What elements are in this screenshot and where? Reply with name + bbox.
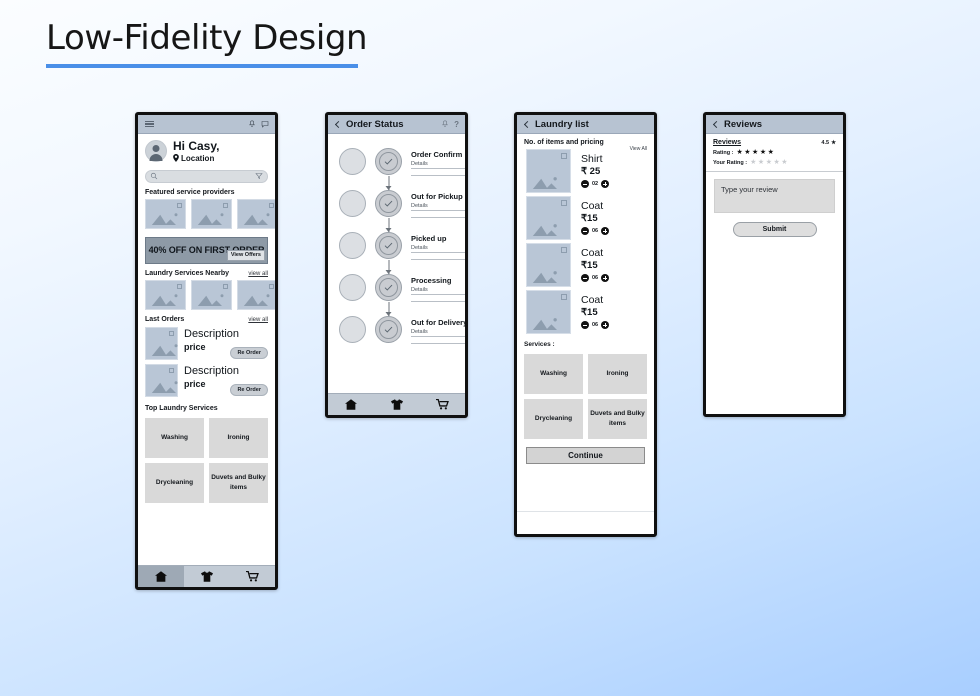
home-appbar: [138, 115, 275, 134]
rating-row: Rating : ★★★★★: [706, 146, 843, 156]
step-details[interactable]: Details: [411, 245, 468, 251]
your-rating-stars[interactable]: ★★★★★: [750, 159, 787, 166]
tab-home[interactable]: [138, 566, 184, 587]
laundry-list-appbar: Laundry list: [517, 115, 654, 134]
bell-icon[interactable]: [441, 120, 449, 128]
status-step: Out for Pickup Details: [328, 190, 465, 232]
image-placeholder-icon: [531, 176, 568, 189]
cart-icon: [246, 571, 259, 582]
quantity-stepper[interactable]: 06: [581, 274, 609, 282]
image-placeholder-icon: [150, 293, 187, 306]
item-thumbnail: [526, 243, 571, 287]
step-check-icon: [375, 190, 402, 217]
service-tile-washing[interactable]: Washing: [145, 418, 204, 458]
step-thumbnail: [339, 316, 366, 343]
step-connector: [388, 260, 389, 274]
cart-icon: [436, 399, 449, 410]
step-check-icon: [375, 274, 402, 301]
your-rating-label: Your Rating :: [713, 160, 747, 166]
step-details[interactable]: Details: [411, 203, 468, 209]
star-icon[interactable]: ★: [758, 159, 764, 166]
laundry-item-row: Shirt ₹ 25 02: [517, 146, 654, 193]
minus-icon[interactable]: [581, 274, 589, 282]
featured-thumbnail[interactable]: [191, 199, 232, 229]
nearby-thumbnail[interactable]: [191, 280, 232, 310]
nearby-thumbnail[interactable]: [145, 280, 186, 310]
step-thumbnail: [339, 274, 366, 301]
service-tile-washing[interactable]: Washing: [524, 354, 583, 394]
bell-icon[interactable]: [248, 120, 256, 128]
image-placeholder-icon: [242, 293, 275, 306]
item-price: ₹15: [581, 213, 609, 224]
star-icon: ★: [736, 149, 742, 156]
star-icon: ★: [768, 149, 774, 156]
plus-icon[interactable]: [601, 274, 609, 282]
services-grid: Washing Ironing Drycleaning Duvets and B…: [517, 351, 654, 439]
item-thumbnail: [526, 149, 571, 193]
item-name: Coat: [581, 295, 609, 307]
tshirt-icon: [391, 399, 403, 410]
page-header: Low-Fidelity Design: [46, 18, 367, 68]
home-icon: [345, 399, 357, 410]
reviews-section-header: Reviews 4.5 ★: [706, 134, 843, 146]
re-order-button[interactable]: Re Order: [230, 384, 268, 396]
step-details[interactable]: Details: [411, 287, 468, 293]
service-tile-drycleaning[interactable]: Drycleaning: [524, 399, 583, 439]
last-order-row[interactable]: Description price Re Order: [145, 364, 268, 397]
step-title: Out for Pickup: [411, 192, 468, 201]
service-tile-ironing[interactable]: Ironing: [588, 354, 647, 394]
search-icon: [150, 172, 158, 180]
view-offers-button[interactable]: View Offers: [227, 250, 265, 261]
order-thumbnail: [145, 327, 178, 360]
tshirt-icon: [201, 571, 213, 582]
home-tabbar: [138, 565, 275, 587]
item-quantity: 06: [592, 275, 598, 281]
tab-clothes[interactable]: [184, 566, 230, 587]
nearby-thumbnail[interactable]: [237, 280, 275, 310]
nearby-header: Laundry Services Nearby view all: [145, 270, 268, 277]
phone-mockup-order-status: Order Status ? Order Confirm Details: [325, 112, 468, 418]
items-pricing-header: No. of items and pricing View All: [517, 134, 654, 146]
top-services-grid: Washing Ironing Drycleaning Duvets and B…: [138, 415, 275, 503]
nearby-carousel[interactable]: [138, 280, 275, 310]
rating-score-value: 4.5: [821, 140, 829, 146]
tab-cart[interactable]: [419, 394, 465, 415]
your-rating-row: Your Rating : ★★★★★: [706, 156, 843, 166]
title-underline: [46, 64, 358, 68]
last-orders-header: Last Orders view all: [145, 316, 268, 323]
offer-banner[interactable]: 40% OFF ON FIRST ORDER View Offers: [145, 237, 268, 264]
step-check-icon: [375, 316, 402, 343]
step-thumbnail: [339, 232, 366, 259]
phone-mockup-laundry-list: Laundry list No. of items and pricing Vi…: [514, 112, 657, 537]
home-icon: [155, 571, 167, 582]
image-placeholder-icon: [150, 380, 187, 393]
reviews-section-title: Reviews: [713, 139, 741, 146]
page-title: Low-Fidelity Design: [46, 18, 367, 58]
service-tile-ironing[interactable]: Ironing: [209, 418, 268, 458]
service-tile-duvets[interactable]: Duvets and Bulky items: [588, 399, 647, 439]
image-placeholder-icon: [196, 293, 233, 306]
step-title: Out for Delivery: [411, 318, 468, 327]
plus-icon[interactable]: [601, 227, 609, 235]
step-thumbnail: [339, 190, 366, 217]
checkmark-icon: [384, 158, 393, 165]
star-icon[interactable]: ★: [773, 159, 779, 166]
step-check-icon: [375, 232, 402, 259]
back-chevron-icon[interactable]: [335, 120, 342, 127]
service-tile-duvets[interactable]: Duvets and Bulky items: [209, 463, 268, 503]
items-pricing-title: No. of items and pricing: [524, 139, 604, 146]
items-view-all-link[interactable]: View All: [630, 146, 647, 152]
featured-thumbnail[interactable]: [145, 199, 186, 229]
item-quantity: 06: [592, 228, 598, 234]
tab-home[interactable]: [328, 394, 374, 415]
profile-row: Hi Casy, Location: [138, 134, 275, 165]
star-icon: ★: [831, 140, 836, 146]
nearby-title: Laundry Services Nearby: [145, 270, 229, 277]
order-status-appbar: Order Status ?: [328, 115, 465, 134]
featured-carousel[interactable]: [138, 199, 275, 229]
services-label: Services :: [524, 341, 647, 348]
order-description: Description: [184, 366, 239, 378]
star-icon[interactable]: ★: [750, 159, 756, 166]
location-text: Location: [181, 154, 214, 163]
star-icon: ★: [760, 149, 766, 156]
reviews-appbar: Reviews: [706, 115, 843, 134]
phone-mockup-reviews: Reviews Reviews 4.5 ★ Rating : ★★★★★ You…: [703, 112, 846, 417]
step-connector: [388, 302, 389, 316]
item-name: Shirt: [581, 154, 609, 166]
status-step: Processing Details: [328, 274, 465, 316]
location-pin-icon: [173, 154, 179, 162]
user-avatar-icon[interactable]: [145, 140, 167, 162]
checkmark-icon: [384, 326, 393, 333]
step-thumbnail: [339, 148, 366, 175]
re-order-button[interactable]: Re Order: [230, 347, 268, 359]
review-textarea[interactable]: Type your review: [714, 179, 835, 213]
phone-mockup-home: Hi Casy, Location Featured service provi…: [135, 112, 278, 590]
order-thumbnail: [145, 364, 178, 397]
checkmark-icon: [384, 242, 393, 249]
search-input[interactable]: [145, 170, 268, 183]
star-icon: ★: [744, 149, 750, 156]
image-placeholder-icon: [531, 270, 568, 283]
back-chevron-icon[interactable]: [524, 120, 531, 127]
hamburger-icon[interactable]: [145, 121, 154, 128]
image-placeholder-icon: [150, 212, 187, 225]
plus-icon[interactable]: [601, 180, 609, 188]
reviews-divider: [706, 171, 843, 172]
quantity-stepper[interactable]: 02: [581, 180, 609, 188]
item-name: Coat: [581, 248, 609, 260]
step-details[interactable]: Details: [411, 161, 468, 167]
laundry-item-row: Coat ₹15 06: [517, 193, 654, 240]
item-price: ₹15: [581, 307, 609, 318]
image-placeholder-icon: [150, 343, 187, 356]
help-icon[interactable]: ?: [454, 120, 459, 129]
filter-icon[interactable]: [255, 172, 263, 180]
image-placeholder-icon: [531, 317, 568, 330]
item-quantity: 02: [592, 181, 598, 187]
rating-score: 4.5 ★: [821, 140, 836, 146]
nearby-view-all-link[interactable]: view all: [248, 271, 268, 277]
step-title: Picked up: [411, 234, 468, 243]
item-price: ₹15: [581, 260, 609, 271]
greeting-text: Hi Casy,: [173, 140, 219, 153]
order-status-title: Order Status: [346, 119, 404, 130]
plus-icon[interactable]: [601, 321, 609, 329]
rating-label: Rating :: [713, 150, 733, 156]
featured-thumbnail[interactable]: [237, 199, 275, 229]
step-connector: [388, 176, 389, 190]
star-icon: ★: [752, 149, 758, 156]
step-connector: [388, 218, 389, 232]
item-quantity: 06: [592, 322, 598, 328]
minus-icon[interactable]: [581, 321, 589, 329]
back-chevron-icon[interactable]: [713, 120, 720, 127]
status-step: Order Confirm Details: [328, 148, 465, 190]
service-tile-drycleaning[interactable]: Drycleaning: [145, 463, 204, 503]
laundry-item-row: Coat ₹15 06: [517, 287, 654, 334]
step-check-icon: [375, 148, 402, 175]
checkmark-icon: [384, 200, 393, 207]
item-name: Coat: [581, 201, 609, 213]
star-icon[interactable]: ★: [781, 159, 787, 166]
quantity-stepper[interactable]: 06: [581, 321, 609, 329]
image-placeholder-icon: [242, 212, 275, 225]
reviews-title: Reviews: [724, 119, 762, 130]
star-icon[interactable]: ★: [766, 159, 772, 166]
quantity-stepper[interactable]: 06: [581, 227, 609, 235]
status-step: Out for Delivery Details: [328, 316, 465, 358]
step-title: Order Confirm: [411, 150, 468, 159]
last-order-row[interactable]: Description price Re Order: [145, 327, 268, 360]
image-placeholder-icon: [196, 212, 233, 225]
bottom-divider: [517, 511, 654, 512]
last-orders-view-all-link[interactable]: view all: [248, 317, 268, 323]
rating-stars: ★★★★★: [736, 149, 773, 156]
tab-cart[interactable]: [229, 566, 275, 587]
step-title: Processing: [411, 276, 468, 285]
image-placeholder-icon: [531, 223, 568, 236]
minus-icon[interactable]: [581, 227, 589, 235]
chat-icon[interactable]: [261, 120, 269, 128]
last-orders-title: Last Orders: [145, 316, 184, 323]
order-status-tabbar: [328, 393, 465, 415]
laundry-list-title: Laundry list: [535, 119, 589, 130]
status-step: Picked up Details: [328, 232, 465, 274]
order-description: Description: [184, 329, 239, 341]
tab-clothes[interactable]: [374, 394, 420, 415]
top-services-title: Top Laundry Services: [145, 405, 268, 412]
item-thumbnail: [526, 196, 571, 240]
submit-button[interactable]: Submit: [733, 222, 817, 237]
featured-title: Featured service providers: [145, 189, 268, 196]
laundry-item-row: Coat ₹15 06: [517, 240, 654, 287]
step-details[interactable]: Details: [411, 329, 468, 335]
checkmark-icon: [384, 284, 393, 291]
continue-button[interactable]: Continue: [526, 447, 645, 464]
item-thumbnail: [526, 290, 571, 334]
minus-icon[interactable]: [581, 180, 589, 188]
item-price: ₹ 25: [581, 166, 609, 177]
